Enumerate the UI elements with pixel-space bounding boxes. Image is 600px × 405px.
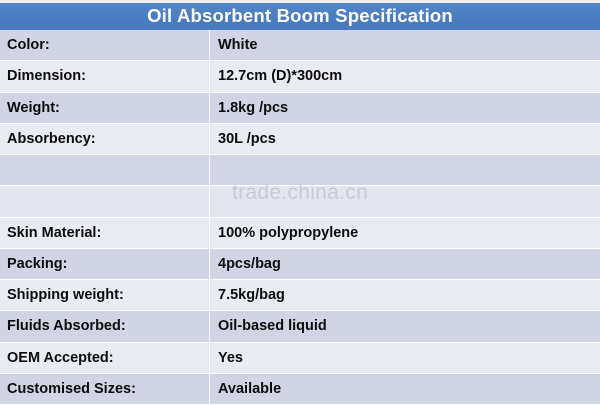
table-row: OEM Accepted:Yes xyxy=(0,343,600,374)
row-value: 4pcs/bag xyxy=(209,256,600,272)
column-divider xyxy=(209,61,210,91)
row-label: Packing: xyxy=(0,256,209,272)
row-label: Customised Sizes: xyxy=(0,381,209,397)
row-label: Skin Material: xyxy=(0,225,209,241)
table-row: Dimension:12.7cm (D)*300cm xyxy=(0,61,600,92)
row-label: OEM Accepted: xyxy=(0,350,209,366)
column-divider xyxy=(209,218,210,248)
table-row: Customised Sizes:Available xyxy=(0,374,600,405)
column-divider xyxy=(209,155,210,185)
row-label: Dimension: xyxy=(0,68,209,84)
table-header-bar: Oil Absorbent Boom Specification xyxy=(0,3,600,30)
table-rows-container: Color:WhiteDimension:12.7cm (D)*300cmWei… xyxy=(0,30,600,405)
column-divider xyxy=(209,93,210,123)
column-divider xyxy=(209,124,210,154)
table-row-spacer xyxy=(0,186,600,217)
row-value: Available xyxy=(209,381,600,397)
column-divider xyxy=(209,280,210,310)
row-label: Color: xyxy=(0,37,209,53)
table-row: Absorbency:30L /pcs xyxy=(0,124,600,155)
column-divider xyxy=(209,186,210,216)
row-value: Yes xyxy=(209,350,600,366)
table-row: Shipping weight:7.5kg/bag xyxy=(0,280,600,311)
specification-table: Oil Absorbent Boom Specification Color:W… xyxy=(0,0,600,405)
column-divider xyxy=(209,30,210,60)
table-row: Fluids Absorbed:Oil-based liquid xyxy=(0,311,600,342)
table-row: Weight:1.8kg /pcs xyxy=(0,93,600,124)
row-label: Shipping weight: xyxy=(0,287,209,303)
row-value: 100% polypropylene xyxy=(209,225,600,241)
column-divider xyxy=(209,311,210,341)
column-divider xyxy=(209,249,210,279)
column-divider xyxy=(209,343,210,373)
row-label: Absorbency: xyxy=(0,131,209,147)
table-row: Skin Material:100% polypropylene xyxy=(0,218,600,249)
row-value: 12.7cm (D)*300cm xyxy=(209,68,600,84)
column-divider xyxy=(209,374,210,404)
row-label: Fluids Absorbed: xyxy=(0,318,209,334)
row-value: 1.8kg /pcs xyxy=(209,100,600,116)
page-title: Oil Absorbent Boom Specification xyxy=(147,7,453,26)
row-value: 7.5kg/bag xyxy=(209,287,600,303)
table-row: Color:White xyxy=(0,30,600,61)
row-label: Weight: xyxy=(0,100,209,116)
table-row-spacer xyxy=(0,155,600,186)
table-row: Packing:4pcs/bag xyxy=(0,249,600,280)
row-value: Oil-based liquid xyxy=(209,318,600,334)
row-value: 30L /pcs xyxy=(209,131,600,147)
row-value: White xyxy=(209,37,600,53)
